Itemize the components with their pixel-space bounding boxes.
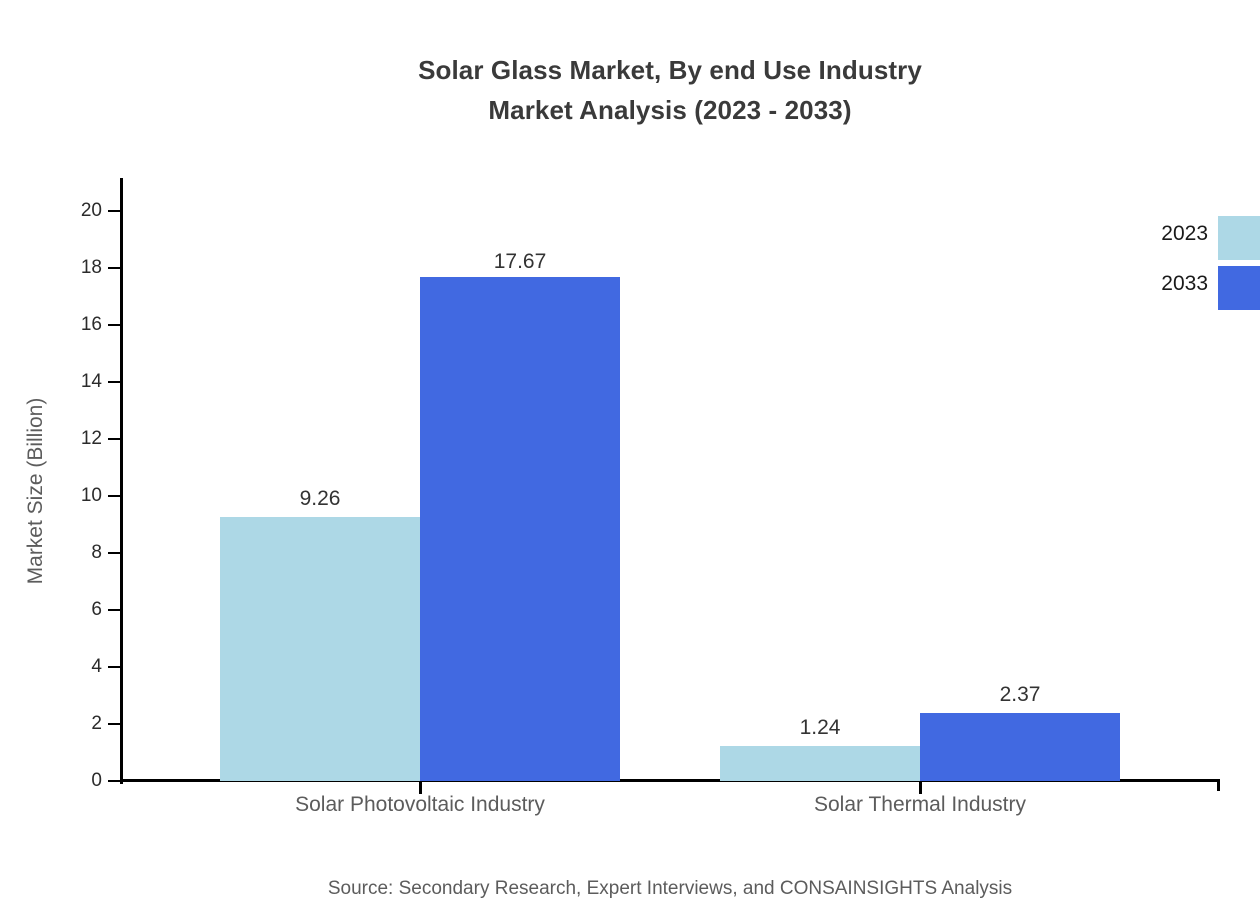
y-axis-label: Market Size (Billion) [24,211,48,771]
legend-swatch-2023 [1218,216,1260,260]
bar-2023-solar-photovoltaic-industry[interactable] [220,517,420,781]
y-tick-mark-0 [108,780,120,782]
chart-figure: Solar Glass Market, By end Use Industry … [0,0,1260,920]
y-tick-mark-16 [108,324,120,326]
y-tick-mark-18 [108,267,120,269]
y-tick-label-0: 0 [91,770,102,792]
y-tick-mark-10 [108,495,120,497]
y-tick-mark-14 [108,381,120,383]
plot-area [120,178,1220,781]
y-tick-label-6: 6 [91,599,102,621]
y-tick-label-8: 8 [91,542,102,564]
y-tick-mark-2 [108,723,120,725]
y-tick-label-2: 2 [91,713,102,735]
source-note: Source: Secondary Research, Expert Inter… [0,878,1260,900]
y-tick-label-12: 12 [81,428,102,450]
bar-2023-solar-thermal-industry[interactable] [720,746,920,781]
y-tick-mark-20 [108,210,120,212]
y-tick-label-4: 4 [91,656,102,678]
bar-value-2033-solar-thermal-industry: 2.37 [1000,683,1041,707]
y-tick-label-18: 18 [81,257,102,279]
y-tick-mark-12 [108,438,120,440]
y-tick-mark-6 [108,609,120,611]
chart-title-line-1: Solar Glass Market, By end Use Industry [418,55,922,85]
y-tick-label-10: 10 [81,485,102,507]
bar-2033-solar-photovoltaic-industry[interactable] [420,277,620,781]
y-tick-label-16: 16 [81,314,102,336]
x-tick-label-solar-photovoltaic-industry: Solar Photovoltaic Industry [295,793,545,817]
legend-item-2033[interactable]: 2033 [1130,266,1260,316]
legend-item-2023[interactable]: 2023 [1130,216,1260,266]
y-tick-mark-8 [108,552,120,554]
chart-title: Solar Glass Market, By end Use Industry … [0,50,1260,130]
bar-value-2023-solar-photovoltaic-industry: 9.26 [300,487,341,511]
bar-value-2033-solar-photovoltaic-industry: 17.67 [494,250,547,274]
legend-label-2023: 2023 [1130,222,1208,246]
legend-label-2033: 2033 [1130,272,1208,296]
legend-swatch-2033 [1218,266,1260,310]
chart-legend: 2023 2033 [1130,216,1260,316]
bar-value-2023-solar-thermal-industry: 1.24 [800,716,841,740]
y-tick-label-20: 20 [81,200,102,222]
bar-2033-solar-thermal-industry[interactable] [920,713,1120,781]
x-tick-label-solar-thermal-industry: Solar Thermal Industry [814,793,1026,817]
chart-title-line-2: Market Analysis (2023 - 2033) [0,90,1260,130]
y-tick-mark-4 [108,666,120,668]
y-tick-label-14: 14 [81,371,102,393]
